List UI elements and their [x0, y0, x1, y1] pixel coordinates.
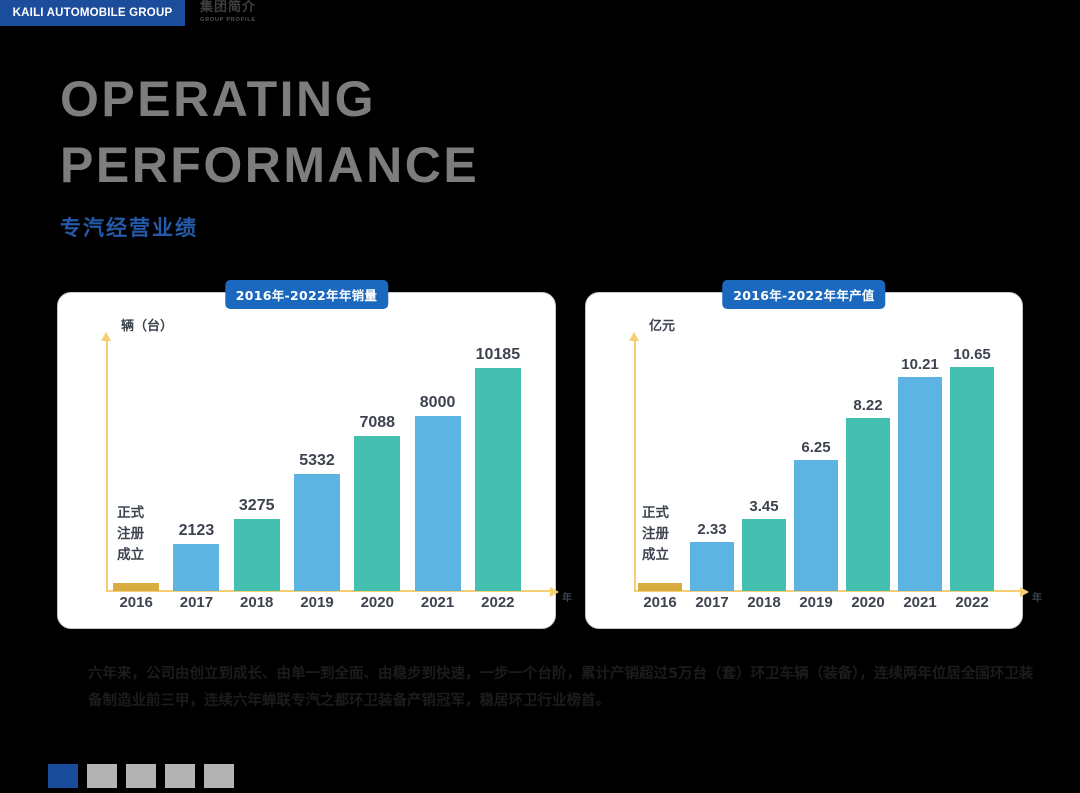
group-profile-label: 集团简介 GROUP PROFILE — [200, 1, 320, 27]
chart-panel-output: 2016年-2022年年产值 亿元 年 正式注册成立 20162.3320173… — [585, 292, 1023, 629]
bar-slot-2018[interactable]: 3.452018 — [742, 339, 786, 591]
bar-slot-2016[interactable]: 2016 — [638, 339, 682, 591]
bar-value-2022: 10185 — [476, 346, 521, 364]
x-tick-2016: 2016 — [643, 594, 676, 611]
bar-value-2020: 7088 — [359, 414, 395, 432]
bar-2021[interactable] — [898, 377, 942, 591]
decorative-square-2 — [87, 764, 117, 788]
decorative-square-3 — [126, 764, 156, 788]
decorative-squares — [48, 764, 234, 788]
bar-slot-2016[interactable]: 2016 — [113, 339, 159, 591]
x-tick-2022: 2022 — [955, 594, 988, 611]
x-tick-2017: 2017 — [695, 594, 728, 611]
bar-group-sales: 2016212320173275201853322019708820208000… — [106, 339, 528, 591]
brand-logo-text: KAILI AUTOMOBILE GROUP — [13, 7, 173, 19]
x-tick-2018: 2018 — [747, 594, 780, 611]
decorative-square-1 — [48, 764, 78, 788]
chart-plot-sales: 辆（台） 年 正式注册成立 20162123201732752018533220… — [58, 293, 555, 628]
bar-value-2021: 10.21 — [901, 356, 939, 373]
group-profile-en: GROUP PROFILE — [200, 16, 320, 24]
bar-2020[interactable] — [354, 436, 400, 591]
page-title-line1: OPERATING — [60, 66, 760, 132]
chart-plot-output: 亿元 年 正式注册成立 20162.3320173.4520186.252019… — [586, 293, 1022, 628]
bar-value-2022: 10.65 — [953, 346, 991, 363]
bar-value-2017: 2.33 — [697, 521, 726, 538]
group-profile-cn: 集团简介 — [200, 1, 320, 15]
brand-logo: KAILI AUTOMOBILE GROUP — [0, 0, 185, 26]
x-tick-2019: 2019 — [799, 594, 832, 611]
x-tick-2016: 2016 — [119, 594, 152, 611]
bar-2016[interactable] — [113, 583, 159, 591]
bar-value-2019: 6.25 — [801, 439, 830, 456]
bar-2017[interactable] — [173, 544, 219, 591]
bar-group-output: 20162.3320173.4520186.2520198.22202010.2… — [634, 339, 998, 591]
bar-value-2018: 3275 — [239, 497, 275, 515]
bar-slot-2017[interactable]: 2.332017 — [690, 339, 734, 591]
bar-2022[interactable] — [475, 368, 521, 591]
page-title-line2: PERFORMANCE — [60, 132, 760, 198]
bar-slot-2018[interactable]: 32752018 — [234, 339, 280, 591]
bar-2021[interactable] — [415, 416, 461, 591]
bar-slot-2022[interactable]: 101852022 — [475, 339, 521, 591]
chart-panel-sales: 2016年-2022年年销量 辆（台） 年 正式注册成立 20162123201… — [57, 292, 556, 629]
bar-slot-2022[interactable]: 10.652022 — [950, 339, 994, 591]
x-tick-2021: 2021 — [421, 594, 454, 611]
x-tick-2021: 2021 — [903, 594, 936, 611]
y-axis-unit-output: 亿元 — [649, 315, 675, 334]
bar-slot-2020[interactable]: 70882020 — [354, 339, 400, 591]
x-tick-2020: 2020 — [851, 594, 884, 611]
decorative-square-4 — [165, 764, 195, 788]
bar-slot-2020[interactable]: 8.222020 — [846, 339, 890, 591]
bar-slot-2021[interactable]: 10.212021 — [898, 339, 942, 591]
bar-slot-2019[interactable]: 53322019 — [294, 339, 340, 591]
bar-2017[interactable] — [690, 542, 734, 591]
bar-2019[interactable] — [794, 460, 838, 591]
summary-paragraph: 六年来，公司由创立到成长、由单一到全面、由稳步到快速，一步一个台阶，累计产销超过… — [88, 661, 1038, 715]
x-tick-2017: 2017 — [180, 594, 213, 611]
bar-value-2019: 5332 — [299, 452, 335, 470]
bar-value-2020: 8.22 — [853, 397, 882, 414]
bar-slot-2019[interactable]: 6.252019 — [794, 339, 838, 591]
x-axis-arrow-icon — [1020, 587, 1029, 597]
x-axis-unit-sales: 年 — [562, 589, 572, 604]
x-axis-unit-output: 年 — [1032, 589, 1042, 604]
x-axis-arrow-icon — [550, 587, 559, 597]
page-subtitle: 专汽经营业绩 — [60, 212, 760, 242]
x-tick-2019: 2019 — [300, 594, 333, 611]
y-axis-unit-sales: 辆（台） — [121, 315, 173, 334]
bar-2020[interactable] — [846, 418, 890, 591]
bar-value-2018: 3.45 — [749, 498, 778, 515]
bar-2018[interactable] — [742, 519, 786, 591]
bar-2016[interactable] — [638, 583, 682, 591]
bar-slot-2017[interactable]: 21232017 — [173, 339, 219, 591]
bar-2019[interactable] — [294, 474, 340, 591]
bar-slot-2021[interactable]: 80002021 — [415, 339, 461, 591]
page-header: KAILI AUTOMOBILE GROUP 集团简介 GROUP PROFIL… — [0, 0, 1080, 26]
x-tick-2018: 2018 — [240, 594, 273, 611]
bar-value-2017: 2123 — [179, 522, 215, 540]
bar-value-2021: 8000 — [420, 394, 456, 412]
x-tick-2020: 2020 — [361, 594, 394, 611]
bar-2022[interactable] — [950, 367, 994, 591]
decorative-square-5 — [204, 764, 234, 788]
page-title: OPERATING PERFORMANCE 专汽经营业绩 — [60, 66, 760, 242]
x-tick-2022: 2022 — [481, 594, 514, 611]
bar-2018[interactable] — [234, 519, 280, 591]
